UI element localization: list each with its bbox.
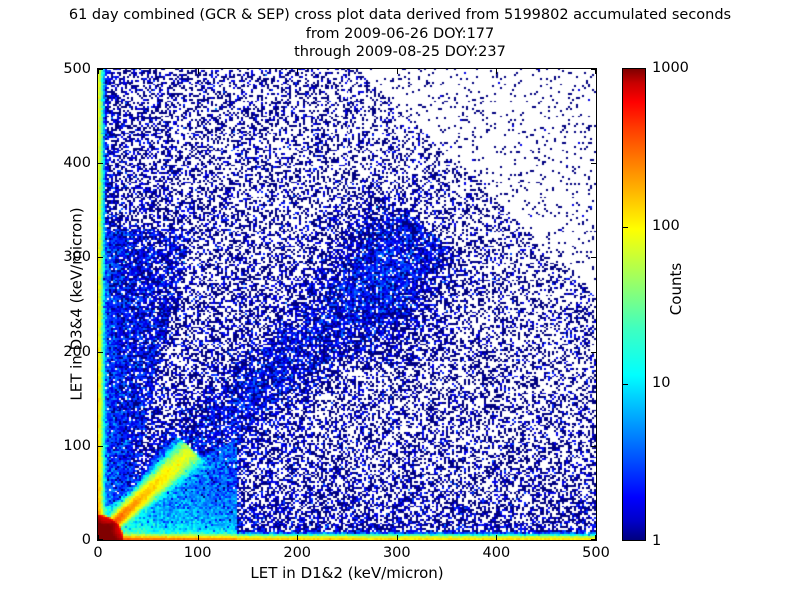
colorbar — [622, 68, 646, 541]
x-axis-label: LET in D1&2 (keV/micron) — [97, 564, 597, 582]
colorbar-label: Counts — [667, 189, 685, 389]
y-axis-label: LET in D3&4 (keV/micron) — [68, 68, 86, 541]
colorbar-tick-mark — [623, 384, 628, 385]
y-tick-mark — [591, 257, 596, 258]
x-axis-tick-labels: 0100200300400500 — [0, 546, 800, 566]
figure: 61 day combined (GCR & SEP) cross plot d… — [0, 0, 800, 600]
x-tick-mark — [297, 69, 298, 74]
x-tick-label: 400 — [466, 546, 526, 561]
x-tick-label: 0 — [68, 546, 128, 561]
colorbar-tick-mark — [623, 227, 628, 228]
x-tick-label: 200 — [267, 546, 327, 561]
chart-title-line-2: from 2009-06-26 DOY:177 — [0, 25, 800, 44]
colorbar-tick-label: 1000 — [652, 61, 689, 76]
x-tick-mark — [595, 535, 596, 540]
plot-area — [97, 68, 597, 541]
x-tick-mark — [198, 535, 199, 540]
chart-title-line-1: 61 day combined (GCR & SEP) cross plot d… — [0, 6, 800, 25]
chart-title-line-3: through 2009-08-25 DOY:237 — [0, 43, 800, 62]
x-tick-mark — [496, 69, 497, 74]
x-tick-label: 500 — [566, 546, 626, 561]
x-tick-mark — [98, 535, 99, 540]
x-tick-mark — [98, 69, 99, 74]
y-tick-mark — [98, 163, 103, 164]
y-tick-mark — [591, 352, 596, 353]
x-tick-mark — [595, 69, 596, 74]
y-tick-mark — [98, 446, 103, 447]
heatmap-canvas — [98, 69, 596, 540]
x-tick-mark — [198, 69, 199, 74]
x-tick-mark — [297, 535, 298, 540]
y-tick-mark — [98, 257, 103, 258]
x-tick-mark — [397, 69, 398, 74]
colorbar-tick-label: 1 — [652, 534, 661, 549]
x-tick-label: 300 — [367, 546, 427, 561]
x-tick-mark — [496, 535, 497, 540]
chart-title: 61 day combined (GCR & SEP) cross plot d… — [0, 6, 800, 62]
y-tick-mark — [591, 163, 596, 164]
y-tick-mark — [98, 352, 103, 353]
y-tick-mark — [591, 446, 596, 447]
x-tick-label: 100 — [168, 546, 228, 561]
x-tick-mark — [397, 535, 398, 540]
